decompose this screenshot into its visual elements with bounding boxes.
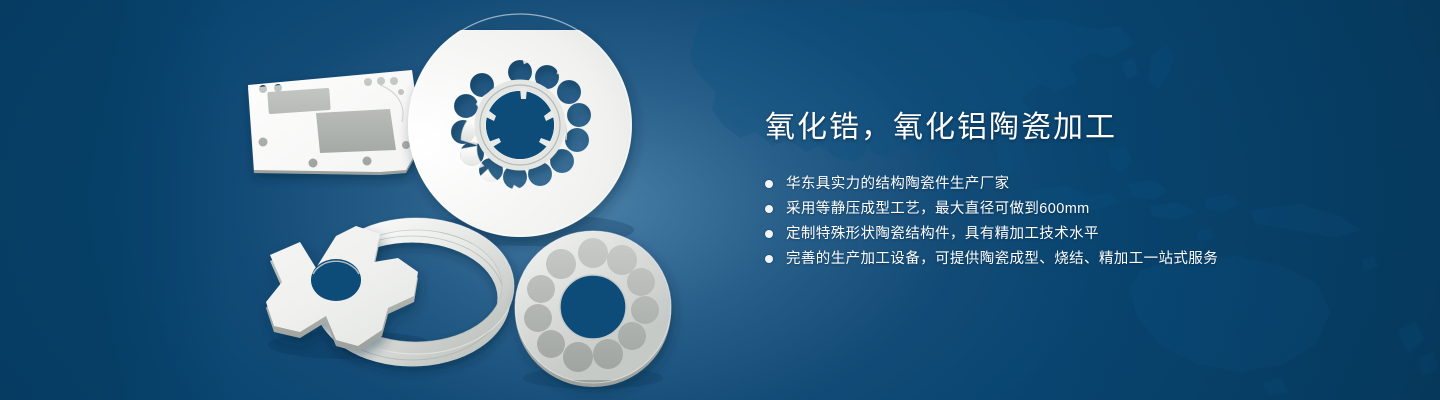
ceramic-products-photo [230,30,700,380]
list-item: 华东具实力的结构陶瓷件生产厂家 [765,172,1385,196]
page-title: 氧化锆，氧化铝陶瓷加工 [765,108,1385,148]
feature-text: 采用等静压成型工艺，最大直径可做到600mm [786,197,1090,221]
banner-copy: 氧化锆，氧化铝陶瓷加工 华东具实力的结构陶瓷件生产厂家 采用等静压成型工艺，最大… [765,108,1385,271]
feature-text: 华东具实力的结构陶瓷件生产厂家 [786,172,1010,196]
bullet-dot-icon [765,230,773,238]
ceramic-hole-disc [230,30,700,387]
feature-text: 完善的生产加工设备，可提供陶瓷成型、烧结、精加工一站式服务 [786,247,1218,271]
list-item: 采用等静压成型工艺，最大直径可做到600mm [765,197,1385,221]
list-item: 完善的生产加工设备，可提供陶瓷成型、烧结、精加工一站式服务 [765,247,1385,271]
feature-text: 定制特殊形状陶瓷结构件，具有精加工技术水平 [786,222,1099,246]
hero-banner: 氧化锆，氧化铝陶瓷加工 华东具实力的结构陶瓷件生产厂家 采用等静压成型工艺，最大… [0,0,1440,400]
bullet-dot-icon [765,255,773,263]
bullet-dot-icon [765,180,773,188]
list-item: 定制特殊形状陶瓷结构件，具有精加工技术水平 [765,222,1385,246]
feature-list: 华东具实力的结构陶瓷件生产厂家 采用等静压成型工艺，最大直径可做到600mm 定… [765,172,1385,271]
bullet-dot-icon [765,205,773,213]
